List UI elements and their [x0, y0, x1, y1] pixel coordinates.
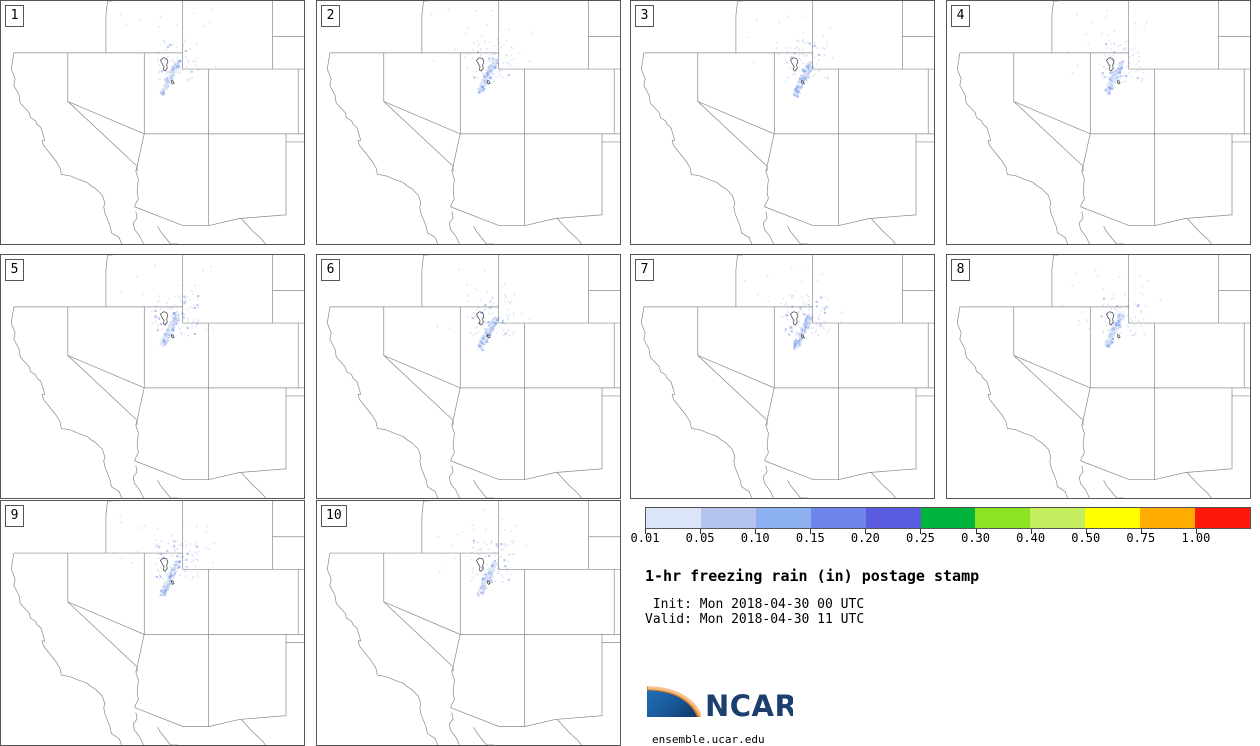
figure-canvas: 12345678910 0.010.050.100.150.200.250.30… [0, 0, 1260, 746]
colorbar-segment [756, 508, 811, 528]
colorbar-tick-label: 0.20 [851, 531, 880, 545]
colorbar [645, 507, 1251, 529]
map-area [317, 255, 620, 498]
colorbar-tick-label: 0.05 [686, 531, 715, 545]
member-number-label: 3 [635, 5, 654, 27]
logo-caption: ensemble.ucar.edu [652, 733, 765, 746]
map-canvas [1, 255, 304, 498]
map-area [1, 255, 304, 498]
ensemble-member-panel[interactable]: 4 [946, 0, 1251, 245]
ensemble-member-panel[interactable]: 2 [316, 0, 621, 245]
colorbar-tick-label: 0.01 [631, 531, 660, 545]
member-number-label: 8 [951, 259, 970, 281]
colorbar-segment [866, 508, 921, 528]
colorbar-segment [1030, 508, 1085, 528]
map-canvas [947, 1, 1250, 244]
member-number-label: 5 [5, 259, 24, 281]
map-canvas [631, 1, 934, 244]
colorbar-segment [701, 508, 756, 528]
colorbar-tick-label: 0.15 [796, 531, 825, 545]
map-canvas [317, 1, 620, 244]
colorbar-tick-label: 0.30 [961, 531, 990, 545]
figure-title: 1-hr freezing rain (in) postage stamp [645, 567, 979, 585]
colorbar-segment [811, 508, 866, 528]
colorbar-tick-label: 1.00 [1181, 531, 1210, 545]
ensemble-member-panel[interactable]: 8 [946, 254, 1251, 499]
map-area [317, 1, 620, 244]
map-area [1, 1, 304, 244]
colorbar-tick-label: 0.50 [1071, 531, 1100, 545]
colorbar-segment [975, 508, 1030, 528]
map-area [947, 1, 1250, 244]
colorbar-tick-label: 0.75 [1126, 531, 1155, 545]
ensemble-member-panel[interactable]: 3 [630, 0, 935, 245]
ncar-logo-mark: NCAR [647, 683, 793, 729]
colorbar-tick-label: 0.25 [906, 531, 935, 545]
map-canvas [947, 255, 1250, 498]
colorbar-segment [1195, 508, 1250, 528]
ncar-logo: NCAR [647, 683, 793, 729]
member-number-label: 7 [635, 259, 654, 281]
map-area [631, 1, 934, 244]
colorbar-tick-labels: 0.010.050.100.150.200.250.300.400.500.75… [0, 531, 1260, 547]
map-canvas [631, 255, 934, 498]
colorbar-segment [646, 508, 701, 528]
ensemble-member-panel[interactable]: 5 [0, 254, 305, 499]
member-number-label: 1 [5, 5, 24, 27]
colorbar-segment [1085, 508, 1140, 528]
map-canvas [1, 1, 304, 244]
colorbar-tick-label: 0.10 [741, 531, 770, 545]
member-number-label: 6 [321, 259, 340, 281]
member-number-label: 2 [321, 5, 340, 27]
colorbar-segment [921, 508, 976, 528]
ensemble-member-panel[interactable]: 7 [630, 254, 935, 499]
map-canvas [317, 255, 620, 498]
ensemble-member-panel[interactable]: 1 [0, 0, 305, 245]
member-number-label: 4 [951, 5, 970, 27]
map-area [947, 255, 1250, 498]
ensemble-member-panel[interactable]: 6 [316, 254, 621, 499]
colorbar-segment [1140, 508, 1195, 528]
member-number-label: 10 [321, 505, 347, 527]
colorbar-tick-label: 0.40 [1016, 531, 1045, 545]
member-number-label: 9 [5, 505, 24, 527]
map-area [631, 255, 934, 498]
init-time-label: Init: Mon 2018-04-30 00 UTC [645, 597, 864, 612]
valid-time-label: Valid: Mon 2018-04-30 11 UTC [645, 612, 864, 627]
svg-text:NCAR: NCAR [705, 689, 793, 723]
